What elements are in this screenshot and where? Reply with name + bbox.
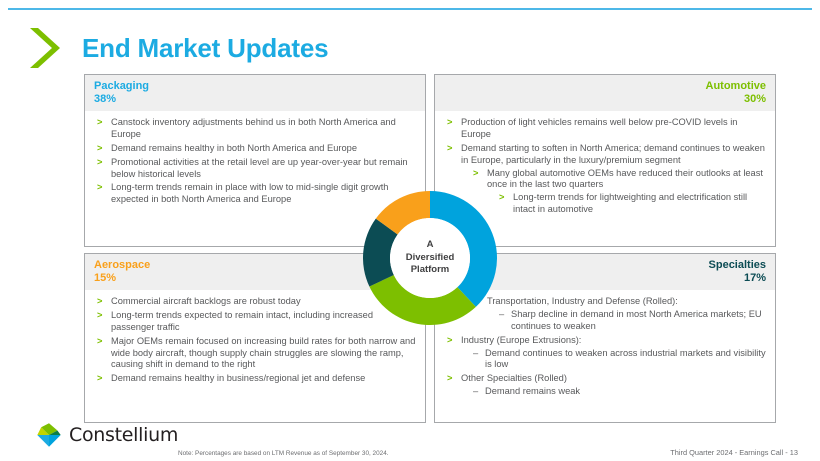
bullet-text: Production of light vehicles remains wel… [461, 117, 767, 141]
list-item: Long-term trends for lightweighting and … [497, 192, 767, 216]
list-item: Sharp decline in demand in most North Am… [497, 309, 767, 333]
bullet-text: Demand starting to soften in North Ameri… [461, 143, 767, 167]
list-item: Production of light vehicles remains wel… [443, 117, 767, 141]
bullet-text: Major OEMs remain focused on increasing … [111, 336, 417, 372]
list-item: Transportation, Industry and Defense (Ro… [469, 296, 767, 333]
bullet-text: Demand remains healthy in both North Ame… [111, 143, 417, 155]
list-item: Demand remains healthy in both North Ame… [93, 143, 417, 155]
bullet-sublist-specialties-1: Demand continues to weaken across indust… [461, 348, 767, 372]
panel-title-packaging: Packaging [94, 80, 416, 93]
footer-note: Note: Percentages are based on LTM Reven… [178, 450, 389, 457]
chevron-right-icon [28, 26, 62, 70]
bullet-sublist-automotive-2: Long-term trends for lightweighting and … [487, 192, 767, 216]
bullet-sublist-specialties-2: Demand remains weak [461, 386, 767, 398]
brand-name: Constellium [69, 424, 178, 446]
bullet-sublist-specialties-0: Sharp decline in demand in most North Am… [487, 309, 767, 333]
list-item: Demand remains weak [471, 386, 767, 398]
bullet-text: Demand remains healthy in business/regio… [111, 373, 417, 385]
brand-logo: Constellium [36, 421, 178, 449]
bullet-text: Other Specialties (Rolled) [461, 373, 767, 385]
footer-meta: Third Quarter 2024 - Earnings Call - 13 [670, 448, 798, 457]
bullet-text: Demand remains weak [485, 386, 580, 396]
bullet-text: Industry (Europe Extrusions): [461, 335, 767, 347]
constellium-logo-icon [36, 422, 62, 448]
panel-header-automotive: Automotive 30% [435, 75, 775, 111]
bullet-text: Transportation, Industry and Defense (Ro… [487, 296, 767, 308]
slide-title-row: End Market Updates [28, 26, 328, 70]
donut-chart-svg [363, 191, 497, 325]
panel-header-packaging: Packaging 38% [85, 75, 425, 111]
bullet-text: Long-term trends for lightweighting and … [513, 192, 747, 214]
panel-percent-packaging: 38% [94, 93, 416, 106]
bullet-text: Promotional activities at the retail lev… [111, 157, 417, 181]
top-divider [8, 8, 812, 10]
list-item: Many global automotive OEMs have reduced… [471, 168, 767, 217]
list-item: Demand remains healthy in business/regio… [93, 373, 417, 385]
list-item: Major OEMs remain focused on increasing … [93, 336, 417, 372]
list-item: Other Specialties (Rolled) Demand remain… [443, 373, 767, 398]
list-item: Promotional activities at the retail lev… [93, 157, 417, 181]
bullet-text: Demand continues to weaken across indust… [485, 348, 766, 370]
page-title: End Market Updates [82, 33, 328, 64]
bullet-text: Sharp decline in demand in most North Am… [511, 309, 762, 331]
list-item: Canstock inventory adjustments behind us… [93, 117, 417, 141]
bullet-text: Canstock inventory adjustments behind us… [111, 117, 417, 141]
panel-percent-automotive: 30% [444, 93, 766, 106]
bullet-text: Many global automotive OEMs have reduced… [487, 168, 763, 190]
donut-hole [390, 218, 470, 298]
panel-title-automotive: Automotive [444, 80, 766, 93]
donut-chart: A Diversified Platform [363, 191, 497, 325]
bullet-sublist-automotive: Many global automotive OEMs have reduced… [461, 168, 767, 217]
list-item: Industry (Europe Extrusions): Demand con… [443, 335, 767, 372]
list-item: Demand continues to weaken across indust… [471, 348, 767, 372]
